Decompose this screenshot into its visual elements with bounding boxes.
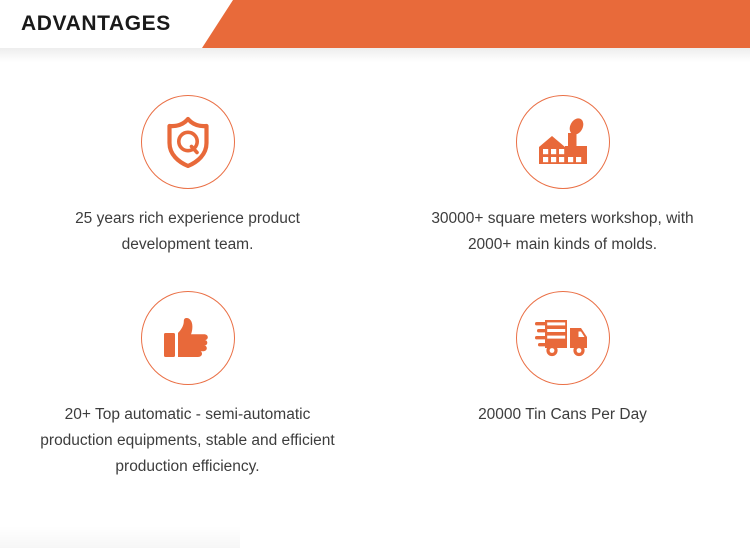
advantages-row-2: 20+ Top automatic - semi-automatic produ… xyxy=(0,291,750,480)
icon-circle-1 xyxy=(141,95,235,189)
advantage-text-1: 25 years rich experience product develop… xyxy=(38,206,338,258)
advantage-card-4: 20000 Tin Cans Per Day xyxy=(375,291,750,480)
advantage-card-1: 25 years rich experience product develop… xyxy=(0,95,375,258)
advantages-page: ADVANTAGES 25 years rich experience prod… xyxy=(0,0,750,548)
factory-icon xyxy=(535,116,591,168)
advantage-text-4: 20000 Tin Cans Per Day xyxy=(413,402,713,428)
page-title: ADVANTAGES xyxy=(21,0,171,48)
shield-quality-icon xyxy=(164,116,212,168)
delivery-truck-icon xyxy=(535,317,591,359)
thumbs-up-icon xyxy=(162,314,214,362)
section-header: ADVANTAGES xyxy=(0,0,750,48)
icon-circle-3 xyxy=(141,291,235,385)
page-bottom-shadow xyxy=(0,526,240,548)
advantages-grid: 25 years rich experience product develop… xyxy=(0,48,750,480)
advantage-card-3: 20+ Top automatic - semi-automatic produ… xyxy=(0,291,375,480)
advantage-text-2: 30000+ square meters workshop, with 2000… xyxy=(408,206,718,258)
icon-circle-4 xyxy=(516,291,610,385)
advantage-card-2: 30000+ square meters workshop, with 2000… xyxy=(375,95,750,258)
advantage-text-3: 20+ Top automatic - semi-automatic produ… xyxy=(33,402,343,480)
advantages-row-1: 25 years rich experience product develop… xyxy=(0,95,750,258)
icon-circle-2 xyxy=(516,95,610,189)
